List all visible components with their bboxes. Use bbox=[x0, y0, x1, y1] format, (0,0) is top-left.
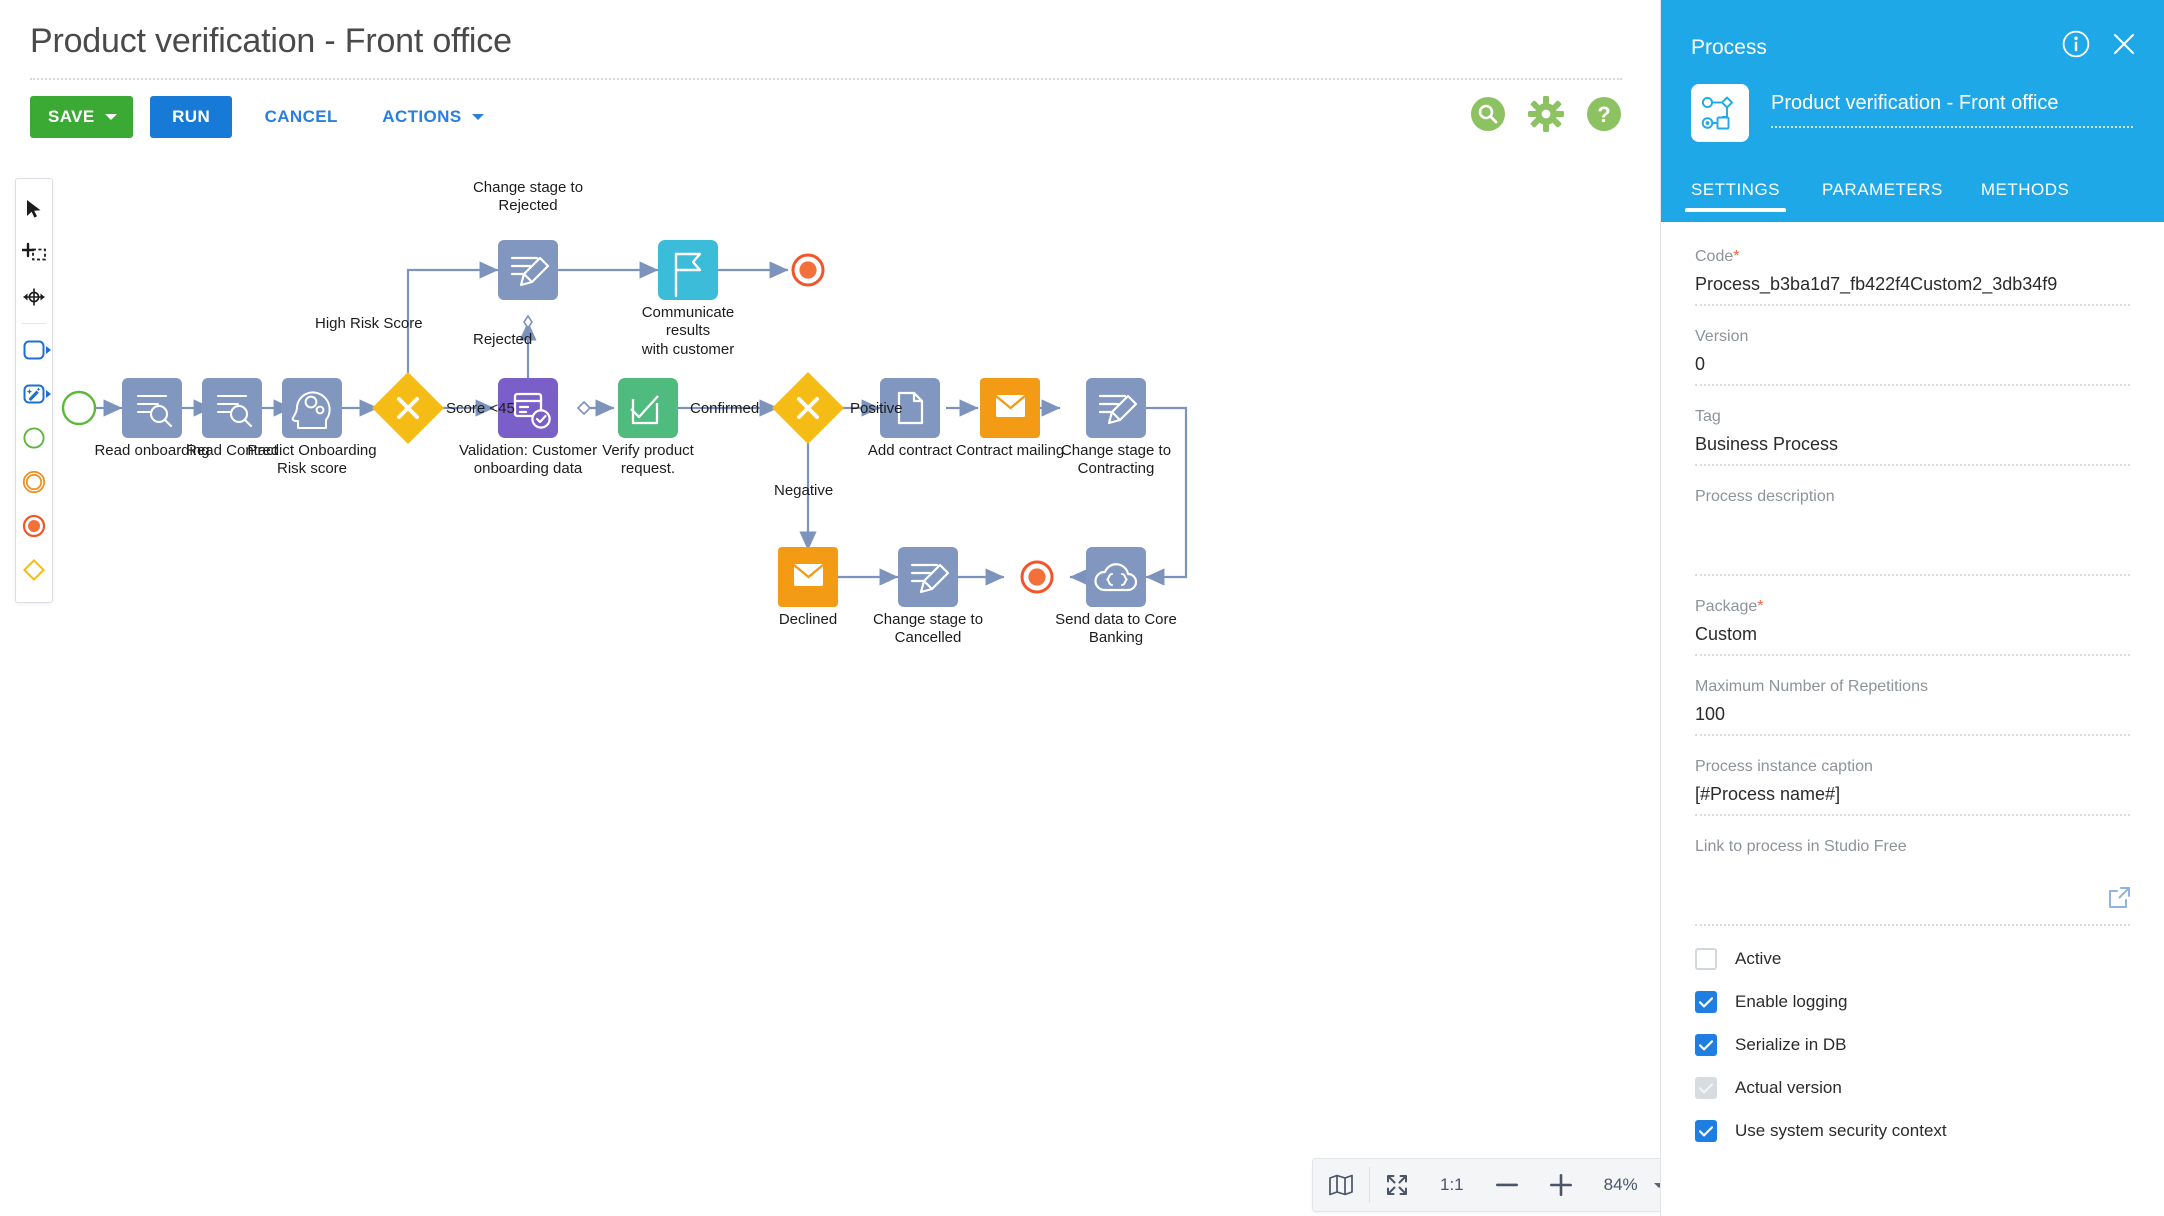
field-process-instance-caption: Process instance caption [#Process name#… bbox=[1695, 758, 2130, 816]
zoom-toolbar: 1:1 84% bbox=[1312, 1158, 1660, 1212]
checkbox-label-security-context: Use system security context bbox=[1735, 1121, 1947, 1141]
code-input[interactable]: Process_b3ba1d7_fb422f4Custom2_3db34f9 bbox=[1695, 274, 2130, 306]
chevron-right-icon[interactable] bbox=[46, 390, 51, 398]
process-description-input[interactable] bbox=[1695, 514, 2130, 576]
zoom-level-dropdown[interactable]: 84% bbox=[1588, 1159, 1660, 1211]
node-send-data-to-core-banking bbox=[1086, 547, 1146, 607]
node-read-contact bbox=[202, 378, 262, 438]
save-button[interactable]: SAVE bbox=[30, 96, 133, 138]
run-button[interactable]: RUN bbox=[150, 96, 232, 138]
actions-button[interactable]: ACTIONS bbox=[368, 96, 497, 138]
package-input[interactable]: Custom bbox=[1695, 624, 2130, 656]
node-read-onboarding bbox=[122, 378, 182, 438]
panel-kind-label: Process bbox=[1691, 36, 1767, 60]
checkbox-icon-checked[interactable] bbox=[1695, 991, 1717, 1013]
node-end-event-top bbox=[793, 255, 823, 285]
checkbox-icon-checked-disabled bbox=[1695, 1077, 1717, 1099]
node-gateway-risk bbox=[372, 372, 444, 444]
zoom-in-button[interactable] bbox=[1534, 1159, 1588, 1211]
studio-link-input[interactable] bbox=[1695, 864, 2130, 926]
field-maximum-number-of-repetitions: Maximum Number of Repetitions 100 bbox=[1695, 678, 2130, 736]
cancel-button[interactable]: CANCEL bbox=[249, 96, 354, 138]
tab-parameters[interactable]: PARAMETERS bbox=[1822, 180, 1943, 212]
node-change-stage-to-contracting bbox=[1086, 378, 1146, 438]
max-repetitions-input[interactable]: 100 bbox=[1695, 704, 2130, 736]
tab-methods[interactable]: METHODS bbox=[1981, 180, 2070, 212]
action-toolbar: SAVE RUN CANCEL ACTIONS bbox=[30, 96, 498, 138]
palette-divider bbox=[22, 323, 46, 324]
checkbox-icon-checked[interactable] bbox=[1695, 1034, 1717, 1056]
svg-text:?: ? bbox=[1597, 102, 1610, 127]
node-end-event-bottom bbox=[1022, 562, 1052, 592]
tag-input[interactable]: Business Process bbox=[1695, 434, 2130, 466]
palette-end-event-element[interactable] bbox=[16, 504, 52, 548]
node-change-stage-to-rejected bbox=[498, 240, 558, 300]
panel-process-name-input[interactable]: Product verification - Front office bbox=[1771, 92, 2133, 128]
edge-label-negative: Negative bbox=[774, 482, 833, 499]
checkbox-use-system-security-context[interactable]: Use system security context bbox=[1695, 1120, 2130, 1142]
checkbox-icon-checked[interactable] bbox=[1695, 1120, 1717, 1142]
edge-label-confirmed: Confirmed bbox=[690, 400, 759, 417]
process-diagram-icon bbox=[1691, 84, 1749, 142]
palette-pan-tool[interactable] bbox=[16, 275, 52, 319]
node-declined bbox=[778, 547, 838, 607]
panel-settings-body: Code* Process_b3ba1d7_fb422f4Custom2_3db… bbox=[1661, 222, 2164, 1216]
palette-task-element[interactable] bbox=[16, 328, 52, 372]
save-button-label: SAVE bbox=[48, 107, 95, 127]
zoom-one-to-one-button[interactable]: 1:1 bbox=[1424, 1159, 1480, 1211]
node-contract-mailing bbox=[980, 378, 1040, 438]
edge-label-high-risk-score: High Risk Score bbox=[315, 315, 423, 332]
field-label-tag: Tag bbox=[1695, 408, 2130, 426]
help-icon[interactable]: ? bbox=[1586, 96, 1622, 132]
field-label-package: Package* bbox=[1695, 598, 2130, 616]
checkbox-icon-unchecked[interactable] bbox=[1695, 948, 1717, 970]
chevron-down-icon bbox=[105, 114, 117, 120]
tab-settings[interactable]: SETTINGS bbox=[1691, 180, 1780, 212]
node-gateway-verification-result bbox=[772, 372, 844, 444]
palette-select-tool[interactable] bbox=[16, 187, 52, 231]
header-icon-group: ? bbox=[1470, 96, 1622, 132]
node-verify-product-request bbox=[618, 378, 678, 438]
external-link-icon[interactable] bbox=[2108, 887, 2130, 914]
search-icon[interactable] bbox=[1470, 96, 1506, 132]
edge-label-positive: Positive bbox=[850, 400, 903, 417]
zoom-out-button[interactable] bbox=[1480, 1159, 1534, 1211]
field-label-instance-caption: Process instance caption bbox=[1695, 758, 2130, 776]
field-tag: Tag Business Process bbox=[1695, 408, 2130, 466]
palette-gateway-element[interactable] bbox=[16, 548, 52, 592]
checkbox-enable-logging[interactable]: Enable logging bbox=[1695, 991, 2130, 1013]
field-label-version: Version bbox=[1695, 328, 2130, 346]
zoom-level-label: 84% bbox=[1604, 1175, 1646, 1195]
node-predict-risk-score bbox=[282, 378, 342, 438]
required-marker: * bbox=[1733, 248, 1739, 265]
fit-to-screen-icon[interactable] bbox=[1370, 1159, 1424, 1211]
field-label-process-description: Process description bbox=[1695, 488, 2130, 506]
panel-tabs: SETTINGS PARAMETERS METHODS bbox=[1661, 180, 2164, 222]
process-properties-panel: Process bbox=[1660, 0, 2164, 1216]
edge-label-score-45: Score <45 bbox=[446, 400, 515, 417]
info-icon[interactable] bbox=[2062, 30, 2090, 63]
actions-button-label: ACTIONS bbox=[382, 107, 461, 127]
panel-header: Process bbox=[1661, 0, 2164, 180]
node-communicate-results-with-customer bbox=[658, 240, 718, 300]
gear-icon[interactable] bbox=[1528, 96, 1564, 132]
editor-main-area: Product verification - Front office SAVE… bbox=[0, 0, 1660, 1216]
field-code: Code* Process_b3ba1d7_fb422f4Custom2_3db… bbox=[1695, 248, 2130, 306]
checkbox-label-active: Active bbox=[1735, 949, 1781, 969]
palette-add-shape-tool[interactable] bbox=[16, 231, 52, 275]
field-package: Package* Custom bbox=[1695, 598, 2130, 656]
diagram-svg bbox=[60, 150, 1660, 1150]
process-diagram-canvas[interactable]: Read onboarding Read Contact Predict Onb… bbox=[60, 150, 1660, 1150]
minimap-icon[interactable] bbox=[1313, 1159, 1369, 1211]
checkbox-label-serialize-in-db: Serialize in DB bbox=[1735, 1035, 1847, 1055]
checkbox-label-enable-logging: Enable logging bbox=[1735, 992, 1847, 1012]
edge-label-rejected: Rejected bbox=[473, 331, 532, 348]
checkbox-actual-version: Actual version bbox=[1695, 1077, 2130, 1099]
chevron-right-icon[interactable] bbox=[46, 346, 51, 354]
chevron-down-icon bbox=[472, 114, 484, 120]
node-change-stage-to-cancelled bbox=[898, 547, 958, 607]
checkbox-active[interactable]: Active bbox=[1695, 948, 2130, 970]
checkbox-serialize-in-db[interactable]: Serialize in DB bbox=[1695, 1034, 2130, 1056]
field-label-max-repetitions: Maximum Number of Repetitions bbox=[1695, 678, 2130, 696]
node-start-event bbox=[63, 392, 95, 424]
palette-intermediate-event-element[interactable] bbox=[16, 460, 52, 504]
element-palette bbox=[15, 178, 53, 603]
checkbox-label-actual-version: Actual version bbox=[1735, 1078, 1842, 1098]
palette-auto-element[interactable] bbox=[16, 372, 52, 416]
field-process-description: Process description bbox=[1695, 488, 2130, 576]
field-studio-link: Link to process in Studio Free bbox=[1695, 838, 2130, 926]
version-input[interactable]: 0 bbox=[1695, 354, 2130, 386]
palette-start-event-element[interactable] bbox=[16, 416, 52, 460]
title-divider bbox=[30, 78, 1622, 80]
field-version: Version 0 bbox=[1695, 328, 2130, 386]
page-title: Product verification - Front office bbox=[30, 22, 512, 61]
process-instance-caption-input[interactable]: [#Process name#] bbox=[1695, 784, 2130, 816]
required-marker: * bbox=[1757, 598, 1763, 615]
field-label-code: Code* bbox=[1695, 248, 2130, 266]
field-label-studio-link: Link to process in Studio Free bbox=[1695, 838, 2130, 856]
close-icon[interactable] bbox=[2110, 30, 2138, 63]
